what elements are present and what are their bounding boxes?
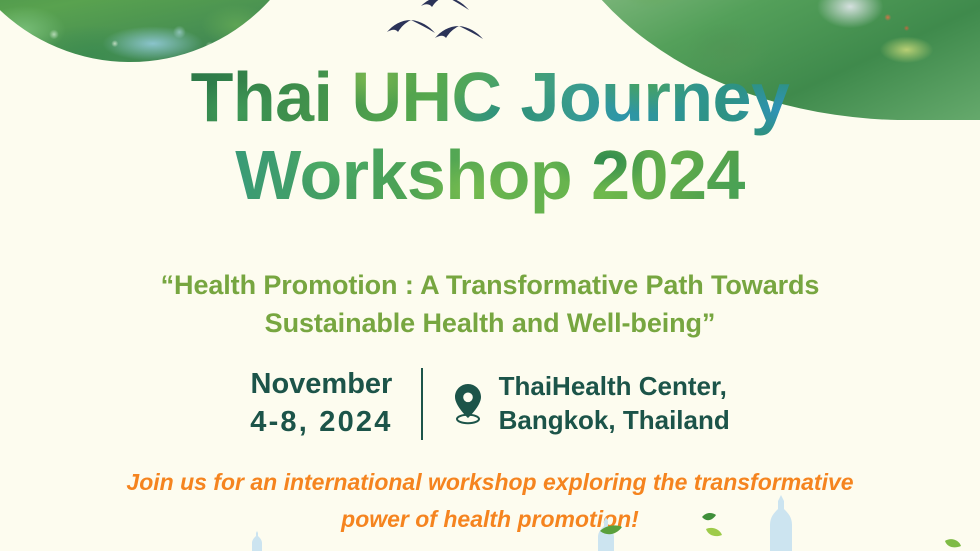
event-date: November 4-8, 2024 — [250, 366, 420, 441]
event-venue-group: ThaiHealth Center, Bangkok, Thailand — [423, 370, 730, 438]
location-pin-icon — [451, 382, 485, 426]
title-line-1: Thai UHC Journey — [0, 58, 980, 136]
tagline-line-1: Join us for an international workshop ex… — [0, 464, 980, 501]
subtitle-line-2: Sustainable Health and Well-being” — [0, 304, 980, 342]
date-month: November — [250, 366, 392, 404]
title-line-2: Workshop 2024 — [0, 136, 980, 214]
flying-birds-icon — [335, 0, 495, 54]
event-poster: Thai UHC Journey Workshop 2024 “Health P… — [0, 0, 980, 551]
poster-title-block: Thai UHC Journey Workshop 2024 — [0, 58, 980, 215]
venue-line-2: Bangkok, Thailand — [499, 404, 730, 438]
event-venue: ThaiHealth Center, Bangkok, Thailand — [499, 370, 730, 438]
date-range: 4-8, 2024 — [250, 404, 392, 442]
poster-tagline: Join us for an international workshop ex… — [0, 464, 980, 538]
poster-subtitle: “Health Promotion : A Transformative Pat… — [0, 266, 980, 343]
event-details: November 4-8, 2024 ThaiHealth Center, Ba… — [0, 366, 980, 441]
venue-line-1: ThaiHealth Center, — [499, 370, 730, 404]
subtitle-line-1: “Health Promotion : A Transformative Pat… — [0, 266, 980, 304]
aerial-landscape-photo-left — [0, 0, 320, 62]
tagline-line-2: power of health promotion! — [0, 501, 980, 538]
